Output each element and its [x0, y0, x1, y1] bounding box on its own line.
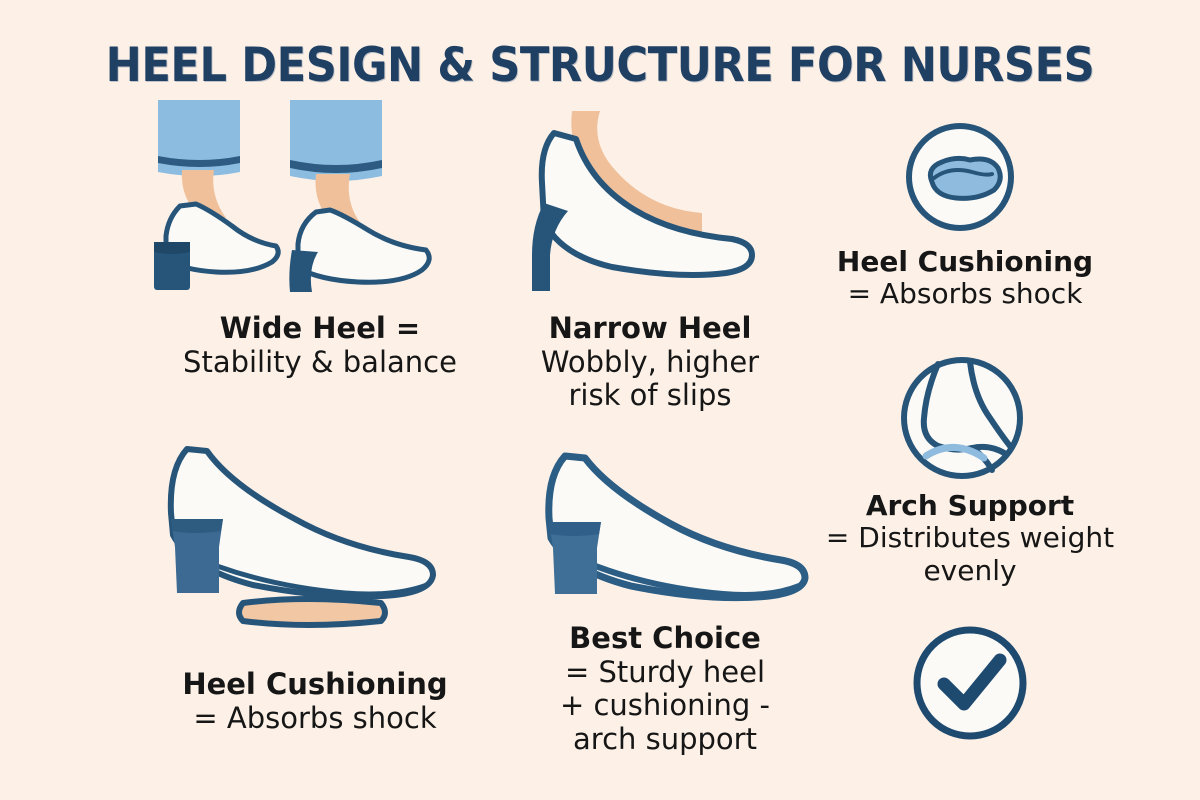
best-choice-sub-1: = Sturdy heel — [505, 656, 825, 690]
arch-support-sub-2: evenly — [800, 555, 1140, 587]
wide-heel-illustration — [140, 100, 500, 315]
wide-heel-heading: Wide Heel = — [120, 312, 520, 346]
infographic-canvas: HEEL DESIGN & STRUCTURE FOR NURSES — [0, 0, 1200, 800]
shoe-back — [154, 204, 278, 290]
heel-cushioning-icon — [898, 122, 1028, 232]
page-title: HEEL DESIGN & STRUCTURE FOR NURSES — [48, 38, 1152, 93]
best-choice-illustration — [525, 440, 825, 620]
best-choice-sub-2: + cushioning - — [505, 689, 825, 723]
heel-cushioning-icon-sub: = Absorbs shock — [810, 278, 1120, 310]
narrow-heel-heading: Narrow Heel — [500, 312, 800, 346]
narrow-heel-sub-2: risk of slips — [500, 379, 800, 413]
heel-cushioning-shoe-sub: = Absorbs shock — [120, 702, 510, 736]
narrow-heel-caption: Narrow Heel Wobbly, higher risk of slips — [500, 312, 800, 413]
best-choice-sub-3: arch support — [505, 723, 825, 757]
heel-cushioning-icon-caption: Heel Cushioning = Absorbs shock — [810, 246, 1120, 311]
heel-cushioning-shoe-caption: Heel Cushioning = Absorbs shock — [120, 668, 510, 735]
narrow-heel-shoe-svg — [520, 105, 780, 305]
heel-cushioning-shoe-heading: Heel Cushioning — [120, 668, 510, 702]
heel-top-shade — [171, 519, 223, 533]
heel-cushioning-illustration — [145, 435, 475, 620]
narrow-heel-sub-1: Wobbly, higher — [500, 346, 800, 380]
cushion-shoe-svg — [145, 435, 475, 620]
heel-cushioning-icon-heading: Heel Cushioning — [810, 246, 1120, 278]
best-choice-caption: Best Choice = Sturdy heel + cushioning -… — [505, 622, 825, 757]
insole-pad — [239, 599, 385, 625]
arch-support-icon — [898, 352, 1033, 487]
shoe-front — [289, 210, 429, 292]
wide-heel-sub: Stability & balance — [120, 346, 520, 380]
approved-icon — [908, 620, 1038, 750]
arch-support-heading: Arch Support — [800, 490, 1140, 522]
check-icon — [908, 620, 1038, 750]
scrub-leg-back — [158, 100, 240, 176]
narrow-heel-illustration — [520, 105, 780, 305]
arch-support-icon-caption: Arch Support = Distributes weight evenly — [800, 490, 1140, 587]
cushion-pad-icon — [898, 122, 1028, 232]
wide-heel-shoes-svg — [140, 100, 500, 315]
best-choice-heading: Best Choice — [505, 622, 825, 656]
best-choice-shoe-svg — [525, 440, 825, 620]
arch-support-sub-1: = Distributes weight — [800, 522, 1140, 554]
scrub-leg-front — [290, 100, 382, 181]
foot-arch-icon — [898, 352, 1033, 487]
wide-heel-caption: Wide Heel = Stability & balance — [120, 312, 520, 379]
heel-top-shade — [549, 522, 601, 536]
